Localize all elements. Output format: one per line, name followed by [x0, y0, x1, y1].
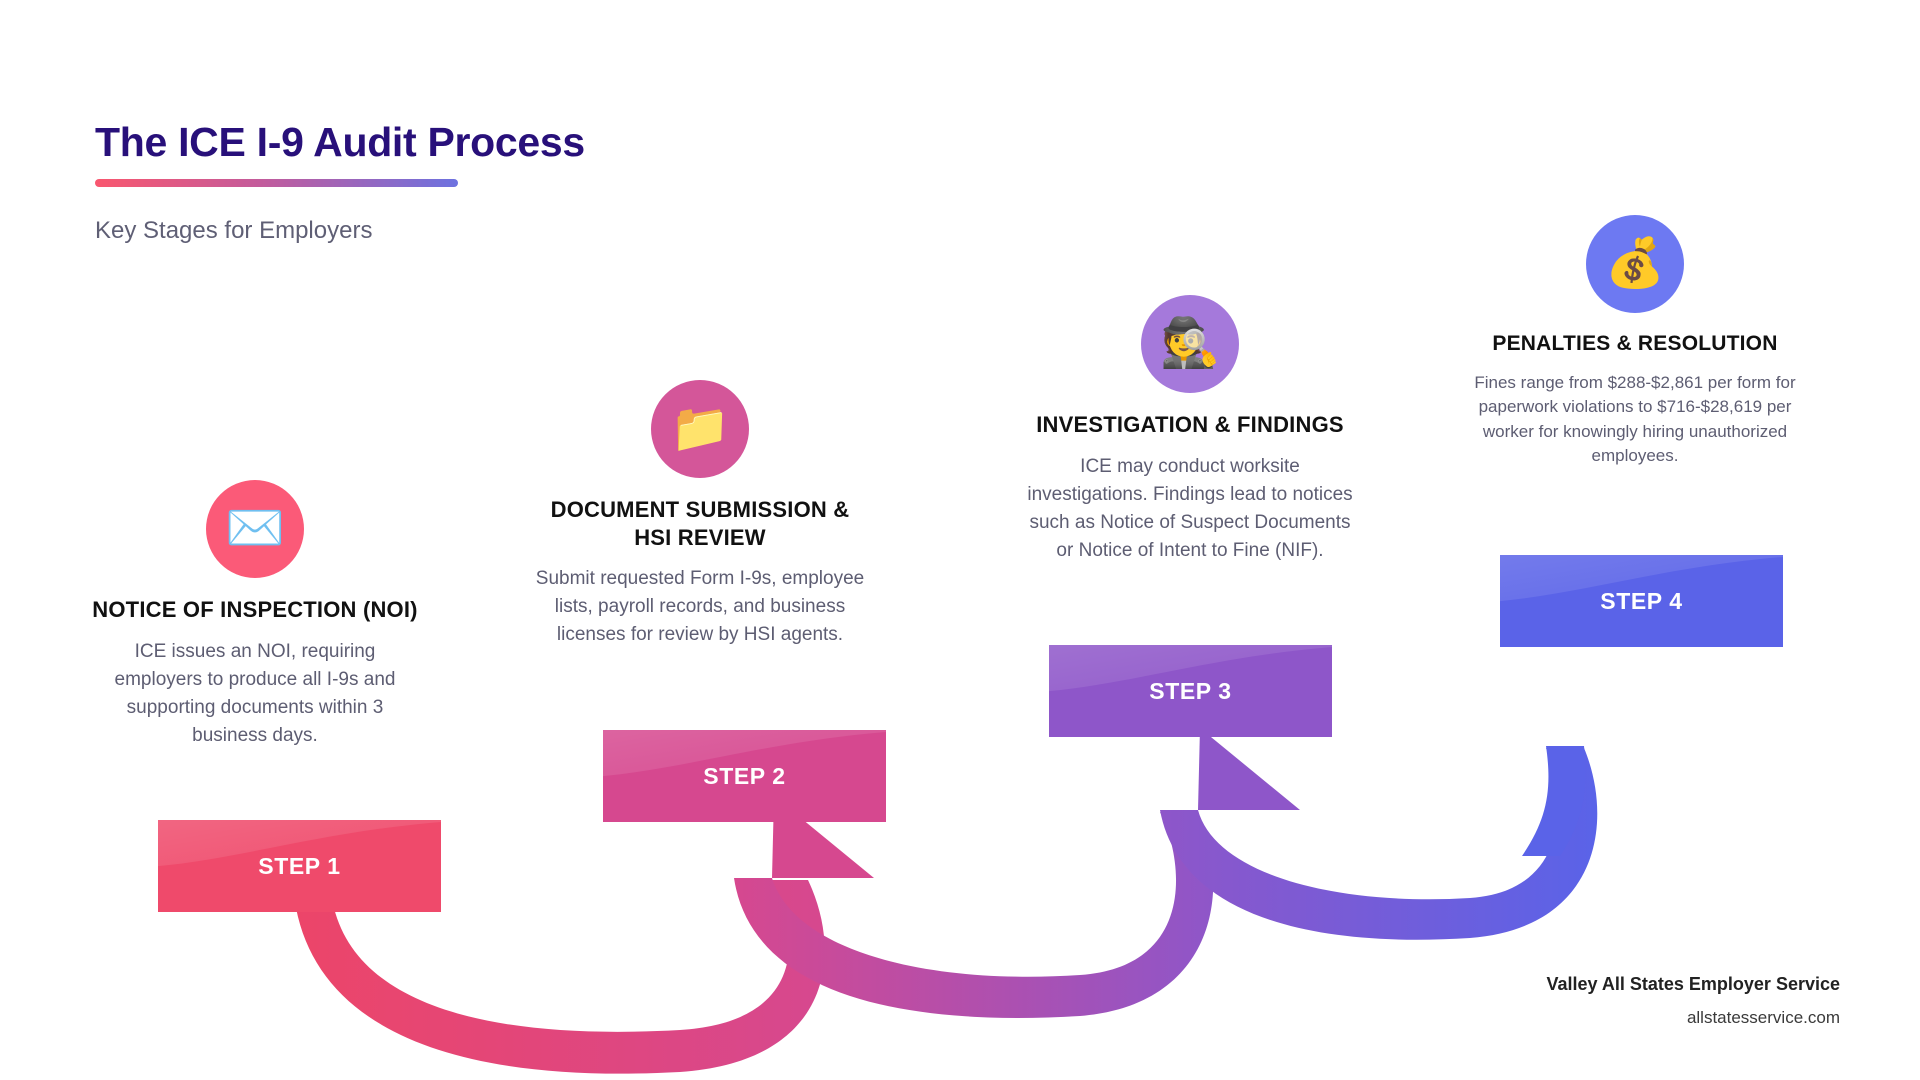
step-1-banner-label: STEP 1	[258, 853, 340, 880]
page-subtitle: Key Stages for Employers	[95, 217, 585, 245]
arrow-head-step-3	[1198, 728, 1300, 810]
folder-icon-glyph: 📁	[670, 405, 730, 453]
step-2-banner[interactable]: STEP 2	[603, 730, 886, 822]
footer-brand: Valley All States Employer Service	[1547, 974, 1841, 995]
step-4-description: Fines range from $288-$2,861 per form fo…	[1470, 371, 1800, 468]
detective-icon: 🕵️	[1141, 295, 1239, 393]
step-1-description: ICE issues an NOI, requiring employers t…	[90, 638, 420, 750]
step-3-block: 🕵️ INVESTIGATION & FINDINGS ICE may cond…	[1025, 295, 1355, 565]
step-3-description: ICE may conduct worksite investigations.…	[1025, 453, 1355, 565]
step-2-block: 📁 DOCUMENT SUBMISSION & HSI REVIEW Submi…	[535, 380, 865, 649]
detective-icon-glyph: 🕵️	[1160, 320, 1220, 368]
step-2-title: DOCUMENT SUBMISSION & HSI REVIEW	[535, 496, 865, 551]
step-4-title: PENALTIES & RESOLUTION	[1470, 331, 1800, 357]
step-4-banner[interactable]: STEP 4	[1500, 555, 1783, 647]
footer-block: Valley All States Employer Service allst…	[1547, 974, 1841, 1028]
folder-icon: 📁	[651, 380, 749, 478]
money-bag-icon: 💰	[1586, 215, 1684, 313]
footer-website[interactable]: allstatesservice.com	[1547, 1008, 1841, 1028]
page-title: The ICE I-9 Audit Process	[95, 120, 585, 165]
step-1-title: NOTICE OF INSPECTION (NOI)	[90, 596, 420, 624]
header-block: The ICE I-9 Audit Process Key Stages for…	[95, 120, 585, 245]
step-4-banner-label: STEP 4	[1600, 588, 1682, 615]
step-1-banner[interactable]: STEP 1	[158, 820, 441, 912]
title-underline-rule	[95, 179, 458, 187]
step-2-banner-label: STEP 2	[703, 763, 785, 790]
money-bag-icon-glyph: 💰	[1605, 240, 1665, 288]
infographic-canvas: The ICE I-9 Audit Process Key Stages for…	[0, 0, 1920, 1080]
step-3-banner-label: STEP 3	[1149, 678, 1231, 705]
envelope-icon-glyph: ✉️	[225, 505, 285, 553]
step-3-banner[interactable]: STEP 3	[1049, 645, 1332, 737]
step-1-block: ✉️ NOTICE OF INSPECTION (NOI) ICE issues…	[90, 480, 420, 750]
step-2-description: Submit requested Form I-9s, employee lis…	[535, 565, 865, 649]
step-3-title: INVESTIGATION & FINDINGS	[1025, 411, 1355, 439]
step-4-block: 💰 PENALTIES & RESOLUTION Fines range fro…	[1470, 215, 1800, 468]
envelope-icon: ✉️	[206, 480, 304, 578]
